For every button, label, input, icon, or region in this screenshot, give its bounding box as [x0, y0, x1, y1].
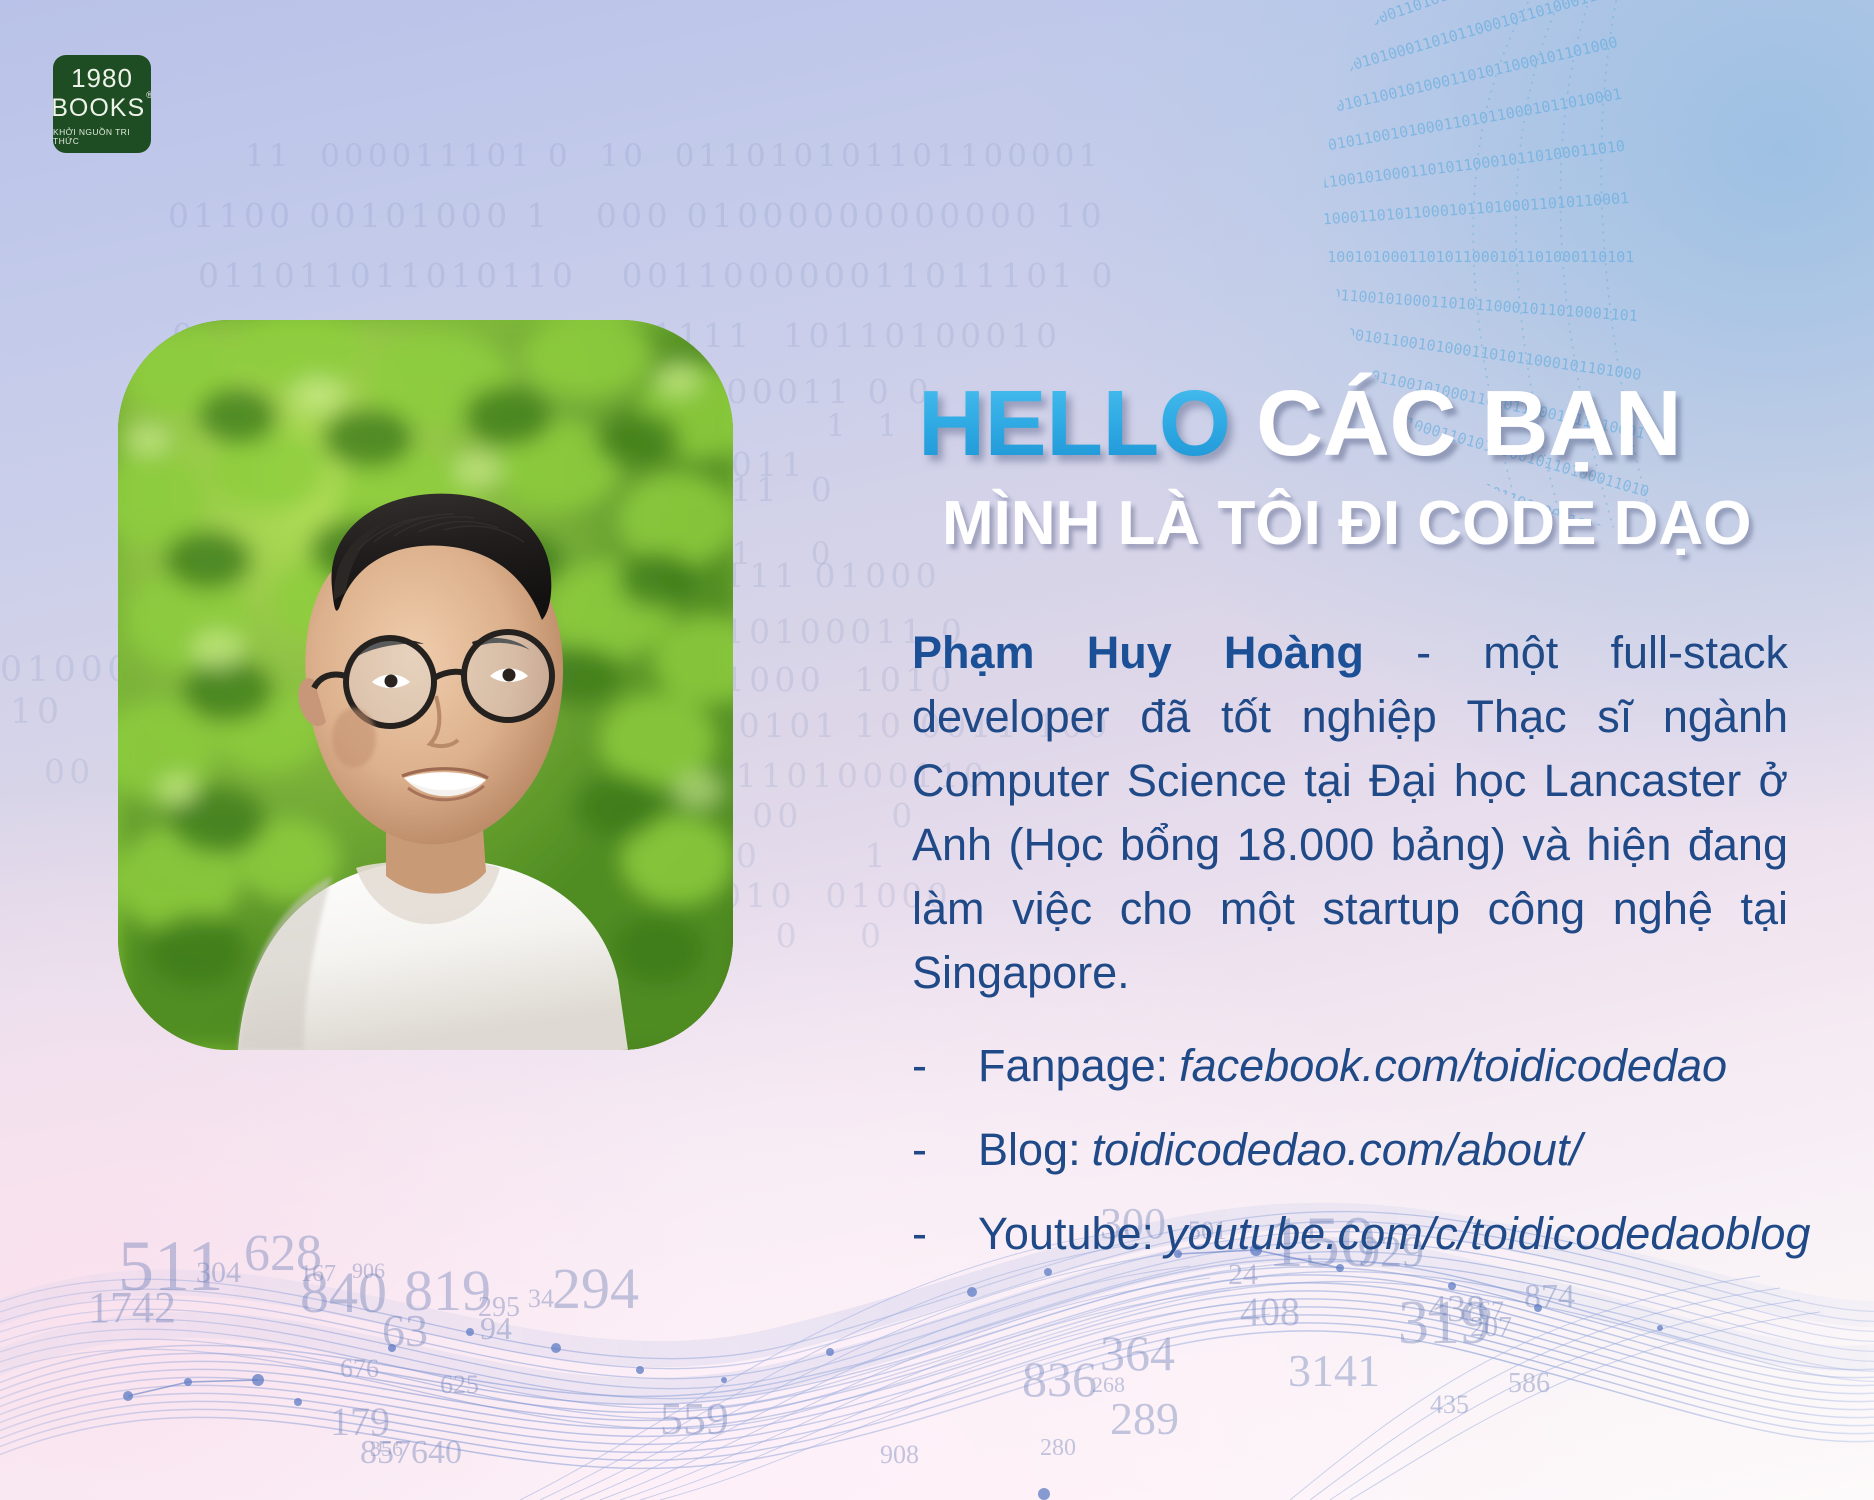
wave-number: 364 — [1100, 1328, 1175, 1378]
wave-number: 295 — [478, 1294, 520, 1322]
svg-text:100101101000101100101000110101: 1001011010001011001010001101011000101101… — [1237, 33, 1619, 138]
wave-number: 438 — [1428, 1290, 1485, 1328]
wave-number: 94 — [480, 1312, 512, 1344]
wave-number: 304 — [196, 1258, 241, 1288]
wave-number: 628 — [244, 1228, 322, 1280]
svg-text:010110010100011010110001011010: 0101100101000110101100010110100011010110… — [1241, 189, 1630, 234]
wave-number: 34 — [528, 1286, 554, 1312]
wave-number: 268 — [1092, 1374, 1125, 1396]
wave-number: 289 — [1110, 1396, 1179, 1442]
link-label-fanpage: Fanpage: — [978, 1034, 1168, 1098]
logo-tagline: KHỞI NGUỒN TRI THỨC — [53, 128, 151, 145]
link-label-blog: Blog: — [978, 1118, 1081, 1182]
wave-number: 559 — [660, 1396, 729, 1442]
title-accent-word: HELLO — [918, 371, 1231, 475]
bullet-dash: - — [912, 1202, 978, 1266]
svg-text:101000101100101000110101100010: 1010001011001010001101011000101101000110… — [1239, 0, 1612, 74]
svg-text:001011010001011001010001101011: 0010110100010110010100011010110001011010… — [1238, 85, 1624, 170]
link-label-youtube: Youtube: — [978, 1202, 1154, 1266]
page-subtitle: MÌNH LÀ TÔI ĐI CODE DẠO — [942, 493, 1806, 555]
link-url-youtube[interactable]: youtube.com/c/toidicodedaoblog — [1165, 1202, 1810, 1266]
wave-number: 511 — [118, 1230, 223, 1302]
portrait-photo — [118, 320, 733, 1050]
registered-trademark-icon: ® — [146, 90, 151, 100]
wave-number: 294 — [552, 1260, 639, 1318]
page-title: HELLO CÁC BẠN — [918, 378, 1806, 469]
svg-text:110100010110010100011010110001: 1101000101100101000110101100010110100011… — [1248, 0, 1608, 10]
binary-row: 10 — [10, 692, 64, 732]
wave-number: 906 — [352, 1260, 385, 1282]
wave-number: 435 — [1430, 1392, 1469, 1418]
list-item[interactable]: - Youtube: youtube.com/c/toidicodedaoblo… — [912, 1202, 1806, 1266]
logo-wordmark: BOOKS® — [53, 96, 151, 121]
wave-number: 836 — [1022, 1354, 1097, 1404]
binary-row: 11 000011101 0 10 011010101101100001 — [245, 138, 1102, 174]
bio-body-text: - một full-stack developer đã tốt nghiệp… — [912, 627, 1788, 997]
info-panel: HELLO CÁC BẠN MÌNH LÀ TÔI ĐI CODE DẠO Ph… — [898, 378, 1806, 1286]
wave-number: 356 — [370, 1438, 403, 1460]
wave-number: 319 — [1398, 1292, 1491, 1354]
poster-canvas: 11 000011101 0 10 0110101011011000010110… — [0, 0, 1874, 1500]
svg-text:011010001011001010001101011000: 0110100010110010100011010110001011010001… — [1250, 280, 1639, 325]
wave-number: 819 — [404, 1262, 491, 1320]
bullet-dash: - — [912, 1118, 978, 1182]
wave-number: 280 — [1040, 1436, 1076, 1460]
brand-logo: 1980 BOOKS® KHỞI NGUỒN TRI THỨC — [53, 55, 151, 153]
contact-links-list: - Fanpage: facebook.com/toidicodedao - B… — [912, 1034, 1806, 1266]
wave-number: 676 — [340, 1356, 379, 1382]
wave-number: 908 — [880, 1442, 919, 1468]
link-url-blog[interactable]: toidicodedao.com/about/ — [1092, 1118, 1582, 1182]
title-rest-words: CÁC BẠN — [1256, 371, 1681, 475]
svg-text:101000101100101000110101100010: 1010001011001010001101011000101101000110… — [1246, 248, 1634, 266]
wave-number: 207 — [1470, 1314, 1512, 1342]
link-url-fanpage[interactable]: facebook.com/toidicodedao — [1179, 1034, 1727, 1098]
svg-text:011010001011001010001101011000: 0110100010110010100011010110001011010001… — [1238, 0, 1616, 106]
wave-number: 840 — [300, 1264, 387, 1322]
wave-number: 586 — [1508, 1370, 1550, 1398]
wave-number: 1742 — [88, 1286, 176, 1330]
bio-person-name: Phạm Huy Hoàng — [912, 627, 1364, 678]
bio-paragraph: Phạm Huy Hoàng - một full-stack develope… — [912, 621, 1788, 1004]
list-item[interactable]: - Blog: toidicodedao.com/about/ — [912, 1118, 1806, 1182]
binary-row: 011011011010110 001100000011011101 0 — [198, 256, 1117, 295]
wave-number: 408 — [1240, 1292, 1300, 1332]
wave-number: 179 — [330, 1402, 390, 1442]
wave-number: 63 — [382, 1308, 428, 1354]
bullet-dash: - — [912, 1034, 978, 1098]
wave-number: 3141 — [1288, 1348, 1380, 1394]
svg-text:110100010110010100011010110001: 1101000101100101000110101100010110100011… — [1238, 137, 1626, 202]
list-item[interactable]: - Fanpage: facebook.com/toidicodedao — [912, 1034, 1806, 1098]
svg-text:010110010100011010110001011010: 0101100101000110101100010110100011010110… — [1243, 0, 1610, 42]
binary-row: 1 1 — [826, 408, 901, 444]
binary-row: 01100 00101000 1 000 01000000000000 10 — [168, 196, 1106, 235]
wave-number: 857640 — [360, 1436, 462, 1470]
logo-year: 1980 — [71, 65, 133, 91]
wave-number: 625 — [440, 1372, 479, 1398]
wave-number: 67 — [1478, 1298, 1504, 1324]
wave-number: 167 — [300, 1262, 336, 1286]
